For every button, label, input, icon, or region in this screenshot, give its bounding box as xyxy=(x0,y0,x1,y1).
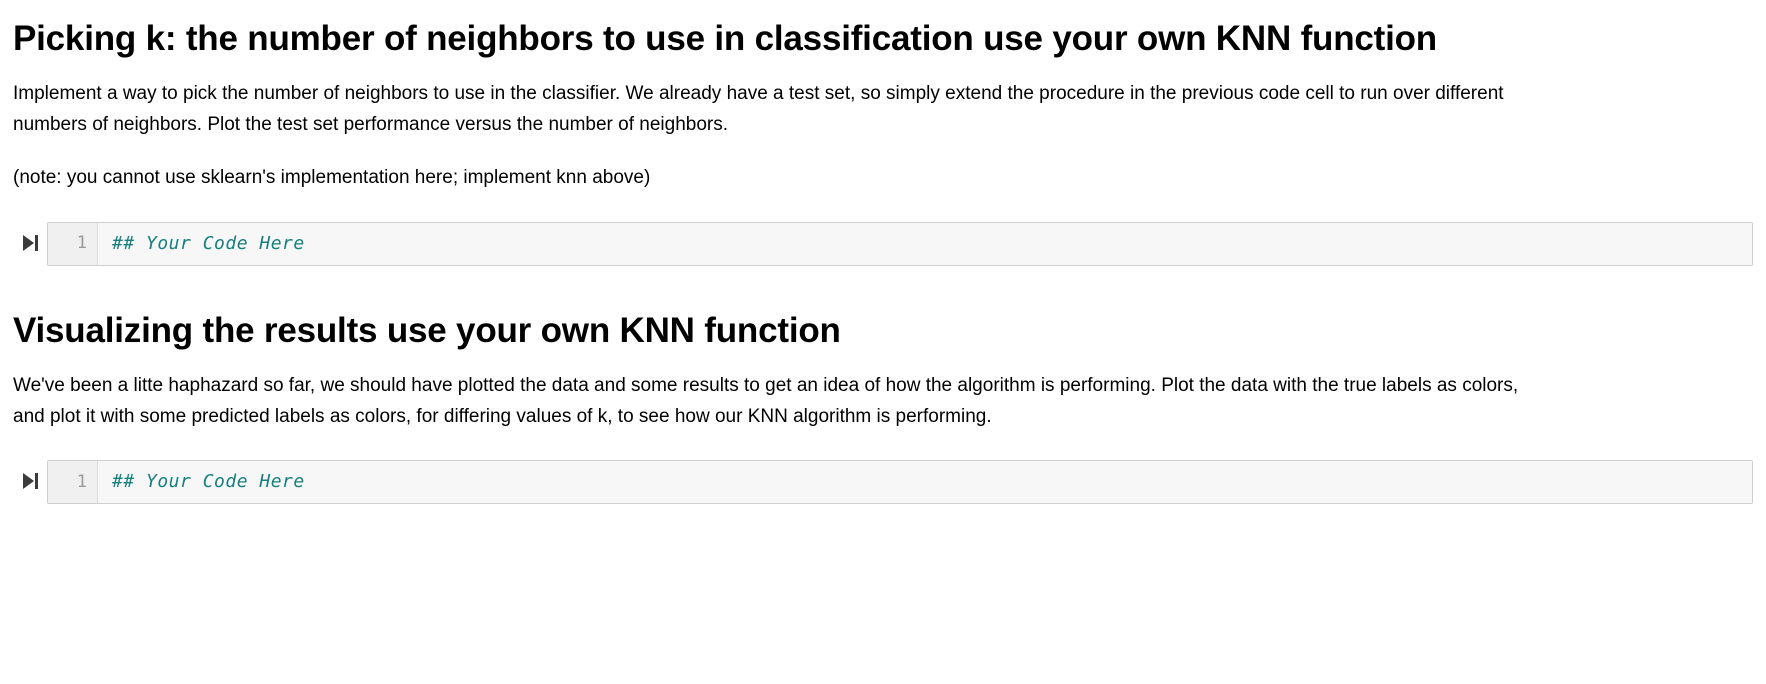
line-number: 1 xyxy=(77,474,87,491)
section-1-paragraph-1: Implement a way to pick the number of ne… xyxy=(13,79,1537,141)
code-editor-2[interactable]: ## Your Code Here xyxy=(98,461,1752,503)
section-2-title: Visualizing the results use your own KNN… xyxy=(13,310,1543,351)
code-cell-2[interactable]: 1 ## Your Code Here xyxy=(47,460,1753,504)
line-number: 1 xyxy=(77,235,87,252)
section-1-note: (note: you cannot use sklearn's implemen… xyxy=(13,163,1537,194)
code-cell-row-2: 1 ## Your Code Here xyxy=(13,460,1753,504)
section-2-paragraph-1: We've been a litte haphazard so far, we … xyxy=(13,371,1537,433)
markdown-cell-1: Picking k: the number of neighbors to us… xyxy=(13,18,1753,194)
line-number-gutter-2: 1 xyxy=(48,461,98,503)
notebook-container: Picking k: the number of neighbors to us… xyxy=(0,18,1766,504)
code-cell-row-1: 1 ## Your Code Here xyxy=(13,222,1753,266)
code-source-text: ## Your Code Here xyxy=(112,235,305,253)
code-cell-1[interactable]: 1 ## Your Code Here xyxy=(47,222,1753,266)
skip-forward-icon[interactable] xyxy=(13,222,47,264)
page-title: Picking k: the number of neighbors to us… xyxy=(13,18,1543,59)
code-source-text: ## Your Code Here xyxy=(112,473,305,491)
markdown-cell-2: Visualizing the results use your own KNN… xyxy=(13,310,1753,433)
line-number-gutter-1: 1 xyxy=(48,223,98,265)
skip-forward-icon[interactable] xyxy=(13,460,47,502)
code-editor-1[interactable]: ## Your Code Here xyxy=(98,223,1752,265)
